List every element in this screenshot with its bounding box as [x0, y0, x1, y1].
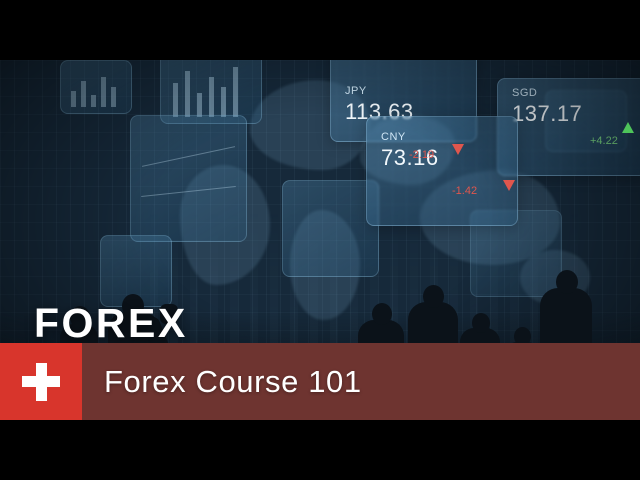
arrow-down-icon: [452, 144, 464, 155]
arrow-up-icon: [622, 122, 634, 133]
letterbox-top: [0, 0, 640, 60]
letterbox-bottom: [0, 420, 640, 480]
quote-change-jpy: -2.19: [409, 149, 434, 161]
swiss-flag-icon: [0, 343, 82, 420]
video-thumbnail: JPY 113.63 -2.19 SGD 137.17 +4.22 CNY 73…: [0, 0, 640, 480]
person-head-silhouette: [556, 270, 578, 294]
banner-label: Forex Course 101: [104, 364, 362, 400]
flag-cross-horizontal: [22, 376, 60, 387]
quote-change-cny: -1.42: [452, 185, 477, 197]
course-banner: Forex Course 101: [0, 343, 640, 420]
person-head-silhouette: [423, 285, 444, 308]
arrow-down-icon: [503, 180, 515, 191]
person-head-silhouette: [472, 313, 490, 333]
